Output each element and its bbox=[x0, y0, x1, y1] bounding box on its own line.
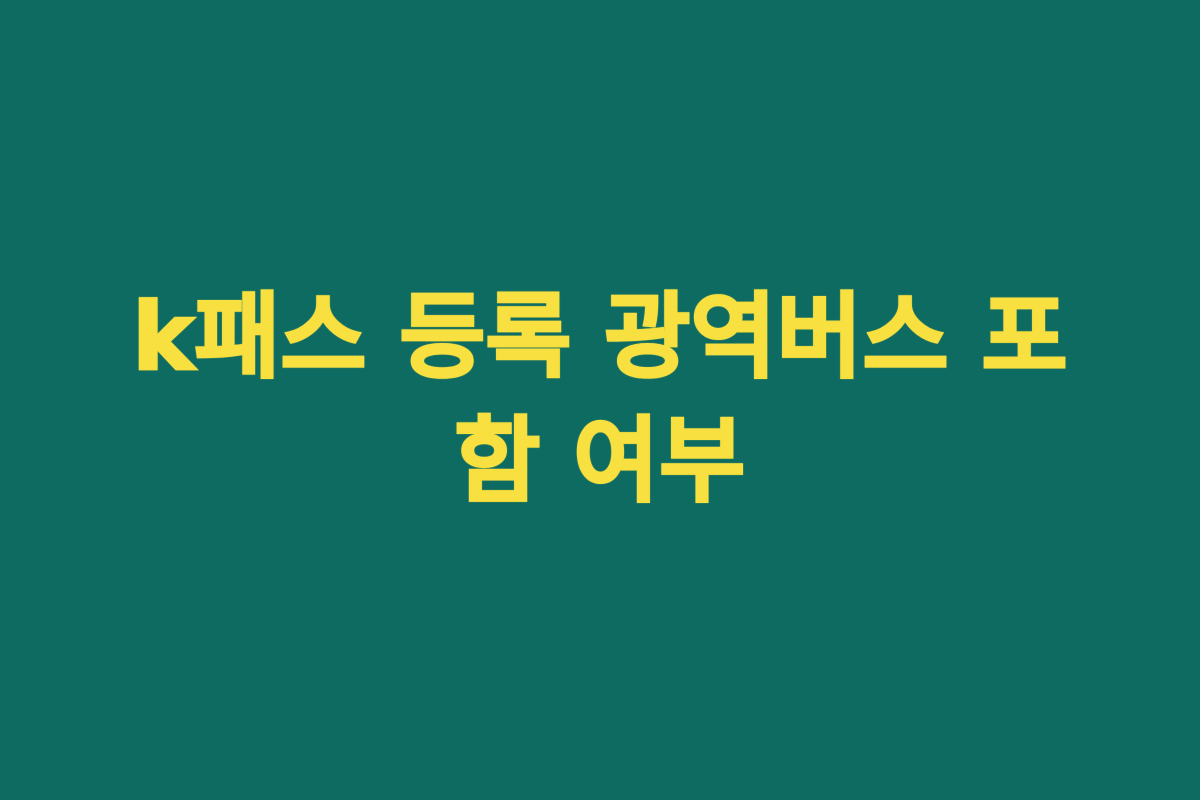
headline-line-2: 함 여부 bbox=[70, 400, 1130, 524]
banner-headline: k패스 등록 광역버스 포 함 여부 bbox=[70, 276, 1130, 523]
headline-line-1: k패스 등록 광역버스 포 bbox=[70, 276, 1130, 400]
text-banner: k패스 등록 광역버스 포 함 여부 bbox=[0, 0, 1200, 800]
